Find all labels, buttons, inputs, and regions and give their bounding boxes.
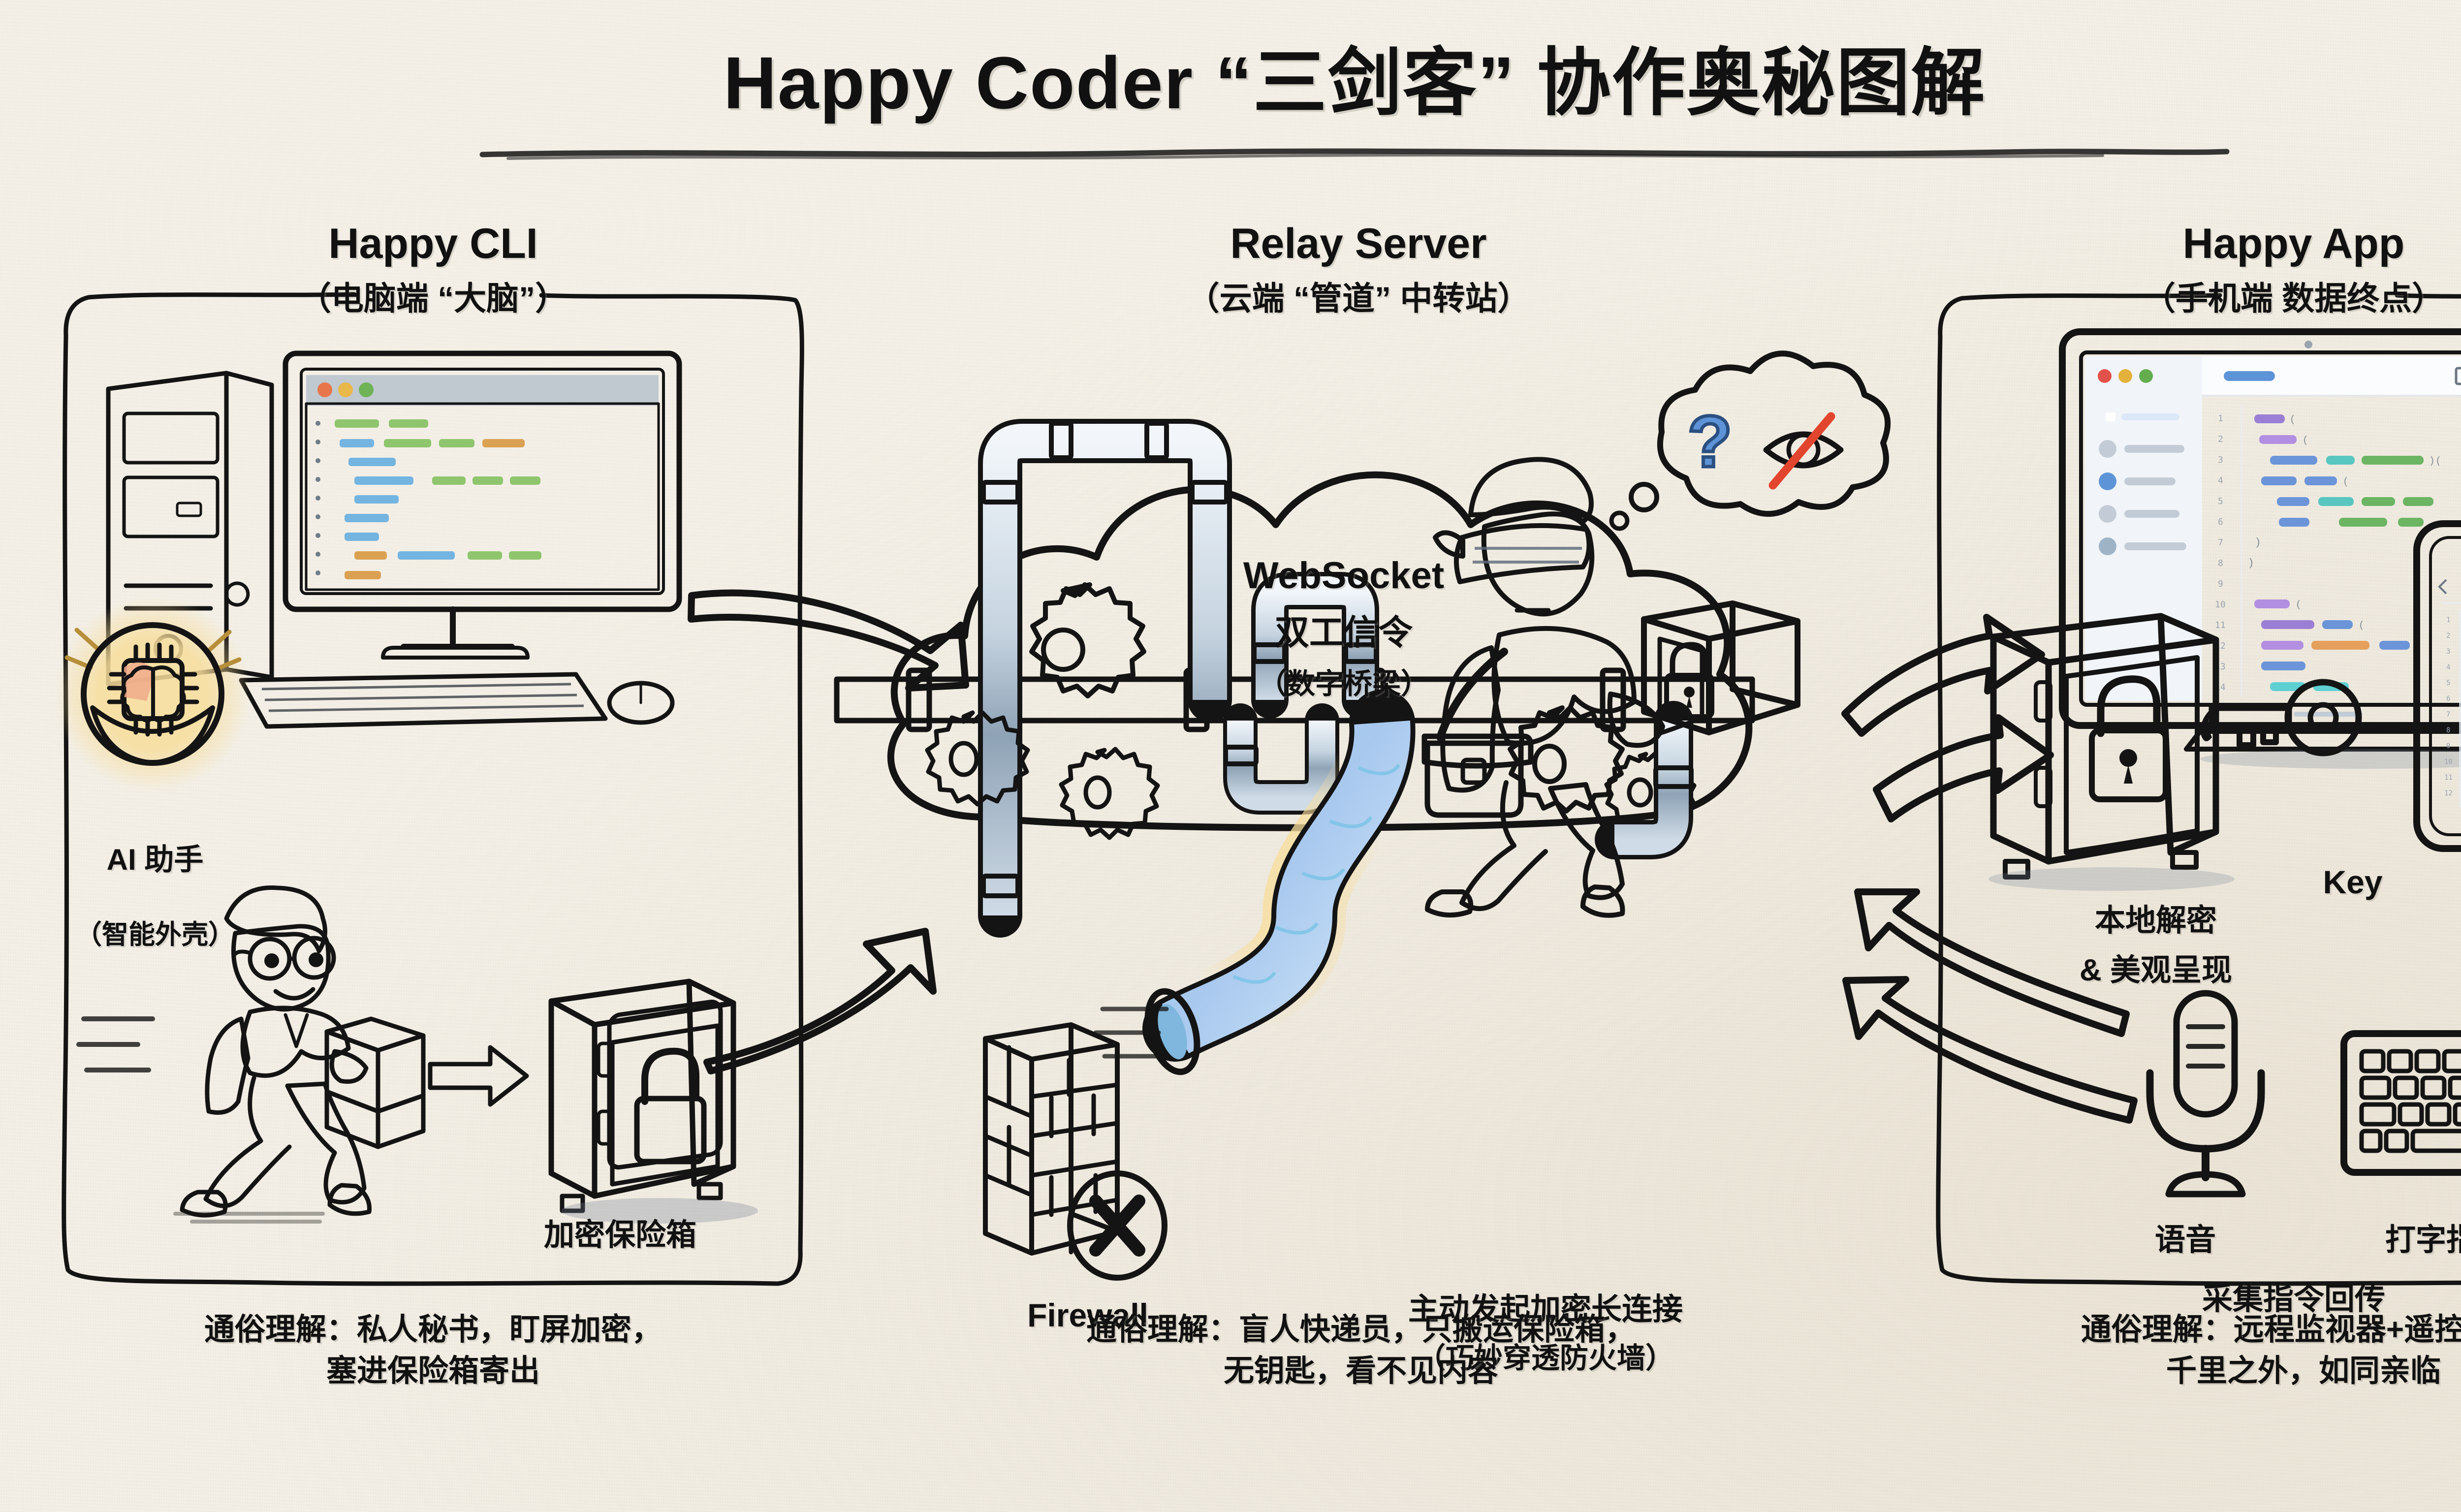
arrow-relay-to-app-top bbox=[1845, 617, 2042, 733]
flow-arrows-layer bbox=[0, 0, 2461, 1512]
arrow-cli-to-relay-top bbox=[691, 593, 966, 688]
caption-relay: 通俗理解：盲人快递员，只搬运保险箱， 无钥匙，看不见内容 bbox=[866, 1309, 1856, 1391]
arrow-relay-to-app-bottom bbox=[1876, 718, 2051, 819]
caption-cli: 通俗理解：私人秘书，盯屏加密， 塞进保险箱寄出 bbox=[44, 1309, 822, 1391]
caption-app: 通俗理解：远程监视器+遥控器， 千里之外，如同亲临 bbox=[1920, 1309, 2461, 1391]
arrow-cli-to-relay-bottom bbox=[707, 931, 933, 1071]
arrow-app-to-relay-top bbox=[1858, 892, 2126, 1034]
